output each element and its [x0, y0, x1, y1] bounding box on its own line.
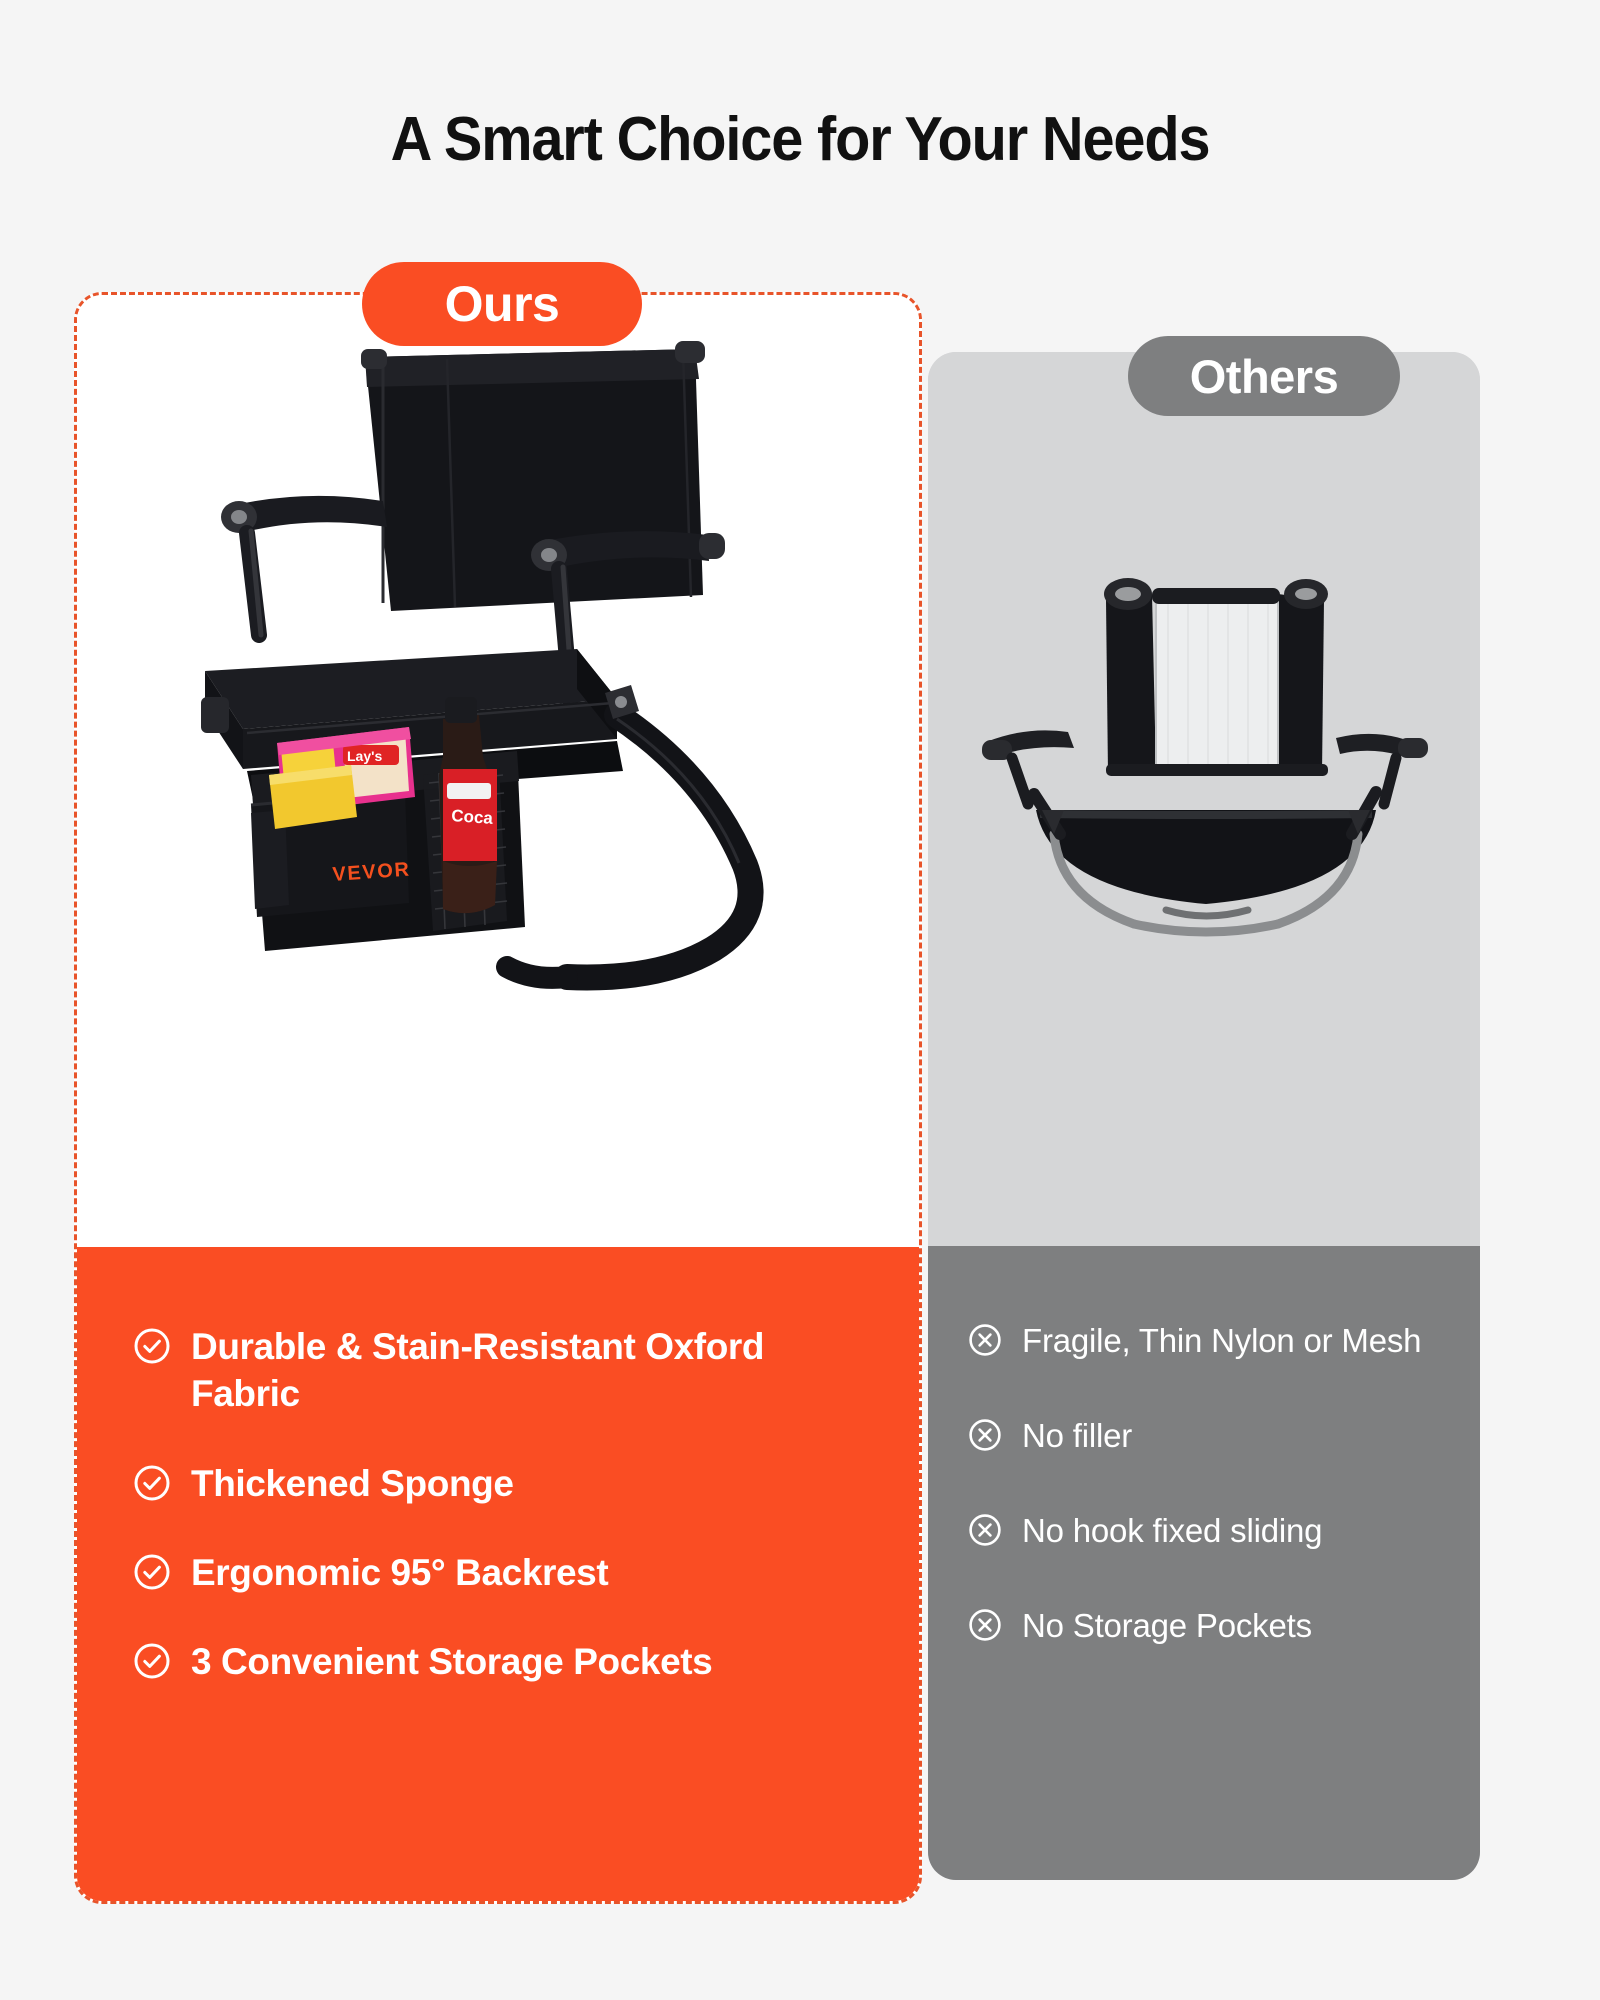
feature-item: Ergonomic 95° Backrest	[133, 1549, 919, 1596]
ours-comparison-card: VEVOR Lay's	[74, 292, 922, 1904]
others-badge: Others	[1128, 336, 1400, 416]
others-drawback-panel: Fragile, Thin Nylon or Mesh No filler	[928, 1246, 1480, 1880]
competitor-chair-illustration	[956, 542, 1456, 1062]
drawback-label: No Storage Pockets	[1022, 1605, 1312, 1648]
svg-text:Coca: Coca	[451, 806, 494, 828]
drawback-label: No hook fixed sliding	[1022, 1510, 1322, 1553]
feature-item: Thickened Sponge	[133, 1460, 919, 1507]
others-drawback-list: Fragile, Thin Nylon or Mesh No filler	[968, 1320, 1480, 1648]
drawback-item: No filler	[968, 1415, 1480, 1458]
feature-item: Durable & Stain-Resistant Oxford Fabric	[133, 1323, 919, 1418]
ours-badge: Ours	[362, 262, 642, 346]
ours-feature-list: Durable & Stain-Resistant Oxford Fabric …	[133, 1323, 919, 1686]
x-circle-icon	[968, 1608, 1002, 1642]
x-circle-icon	[968, 1418, 1002, 1452]
svg-text:Lay's: Lay's	[347, 748, 382, 764]
check-circle-icon	[133, 1553, 171, 1591]
feature-label: Thickened Sponge	[191, 1460, 514, 1507]
ours-product-photo: VEVOR Lay's	[77, 295, 919, 1247]
drawback-item: Fragile, Thin Nylon or Mesh	[968, 1320, 1480, 1363]
feature-item: 3 Convenient Storage Pockets	[133, 1638, 919, 1685]
feature-label: 3 Convenient Storage Pockets	[191, 1638, 712, 1685]
drawback-label: Fragile, Thin Nylon or Mesh	[1022, 1320, 1421, 1363]
check-circle-icon	[133, 1642, 171, 1680]
check-circle-icon	[133, 1327, 171, 1365]
vevor-stadium-chair-illustration: VEVOR Lay's	[147, 305, 847, 1005]
feature-label: Ergonomic 95° Backrest	[191, 1549, 608, 1596]
x-circle-icon	[968, 1323, 1002, 1357]
ours-feature-panel: Durable & Stain-Resistant Oxford Fabric …	[77, 1247, 919, 1901]
x-circle-icon	[968, 1513, 1002, 1547]
drawback-label: No filler	[1022, 1415, 1132, 1458]
others-product-photo	[928, 352, 1480, 1246]
feature-label: Durable & Stain-Resistant Oxford Fabric	[191, 1323, 791, 1418]
others-comparison-card: Fragile, Thin Nylon or Mesh No filler	[928, 352, 1480, 1880]
drawback-item: No hook fixed sliding	[968, 1510, 1480, 1553]
check-circle-icon	[133, 1464, 171, 1502]
drawback-item: No Storage Pockets	[968, 1605, 1480, 1648]
page-title: A Smart Choice for Your Needs	[56, 104, 1544, 175]
